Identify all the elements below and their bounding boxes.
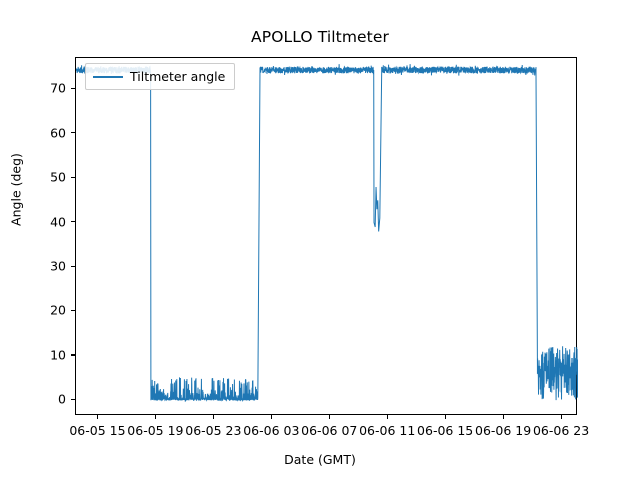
x-tick-label: 06-06 11 — [359, 423, 415, 438]
series-tiltmeter-angle — [76, 64, 578, 400]
y-tick-label: 20 — [26, 303, 66, 318]
x-tick-label: 06-06 15 — [417, 423, 473, 438]
y-axis-label: Angle (deg) — [9, 70, 24, 310]
x-tick-label: 06-05 15 — [69, 423, 125, 438]
y-tick-label: 50 — [26, 170, 66, 185]
y-tick-label: 10 — [26, 347, 66, 362]
legend[interactable]: Tiltmeter angle — [85, 63, 235, 90]
y-tick-label: 30 — [26, 259, 66, 274]
plot-area: Tiltmeter angle — [75, 57, 577, 415]
x-tick-label: 06-06 03 — [243, 423, 299, 438]
legend-swatch-icon — [93, 76, 123, 78]
x-tick-label: 06-06 07 — [301, 423, 357, 438]
data-series-canvas — [76, 58, 578, 416]
legend-label: Tiltmeter angle — [130, 69, 225, 84]
x-tick-label: 06-05 19 — [127, 423, 183, 438]
x-tick-label: 06-06 23 — [533, 423, 589, 438]
y-tick-label: 0 — [26, 392, 66, 407]
chart-title: APOLLO Tiltmeter — [0, 28, 640, 46]
y-tick-label: 70 — [26, 81, 66, 96]
x-tick-label: 06-06 19 — [475, 423, 531, 438]
y-tick-label: 60 — [26, 125, 66, 140]
figure: APOLLO Tiltmeter Angle (deg) Date (GMT) … — [0, 0, 640, 480]
x-tick-label: 06-05 23 — [185, 423, 241, 438]
y-tick-label: 40 — [26, 214, 66, 229]
x-axis-label: Date (GMT) — [0, 452, 640, 467]
